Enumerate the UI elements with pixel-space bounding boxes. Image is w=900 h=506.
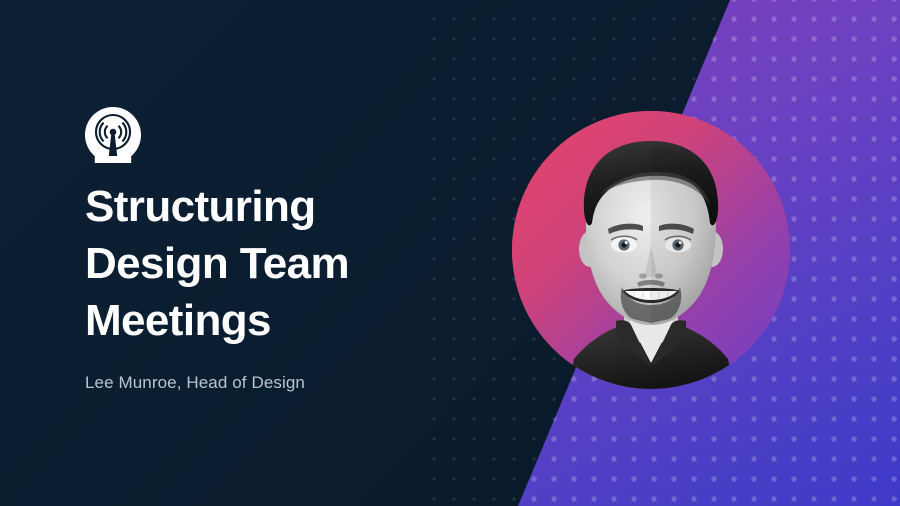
broadcast-antenna-logo-icon (84, 106, 142, 164)
title-line-2: Design Team (85, 235, 485, 292)
title-line-1: Structuring (85, 178, 485, 235)
presenter-portrait-photo (512, 111, 790, 389)
avatar (512, 111, 790, 389)
title-line-3: Meetings (85, 292, 485, 349)
presentation-slide: Structuring Design Team Meetings Lee Mun… (0, 0, 900, 506)
page-title: Structuring Design Team Meetings (85, 178, 485, 349)
slide-text-block: Structuring Design Team Meetings Lee Mun… (85, 178, 485, 395)
presenter-byline: Lee Munroe, Head of Design (85, 371, 485, 395)
